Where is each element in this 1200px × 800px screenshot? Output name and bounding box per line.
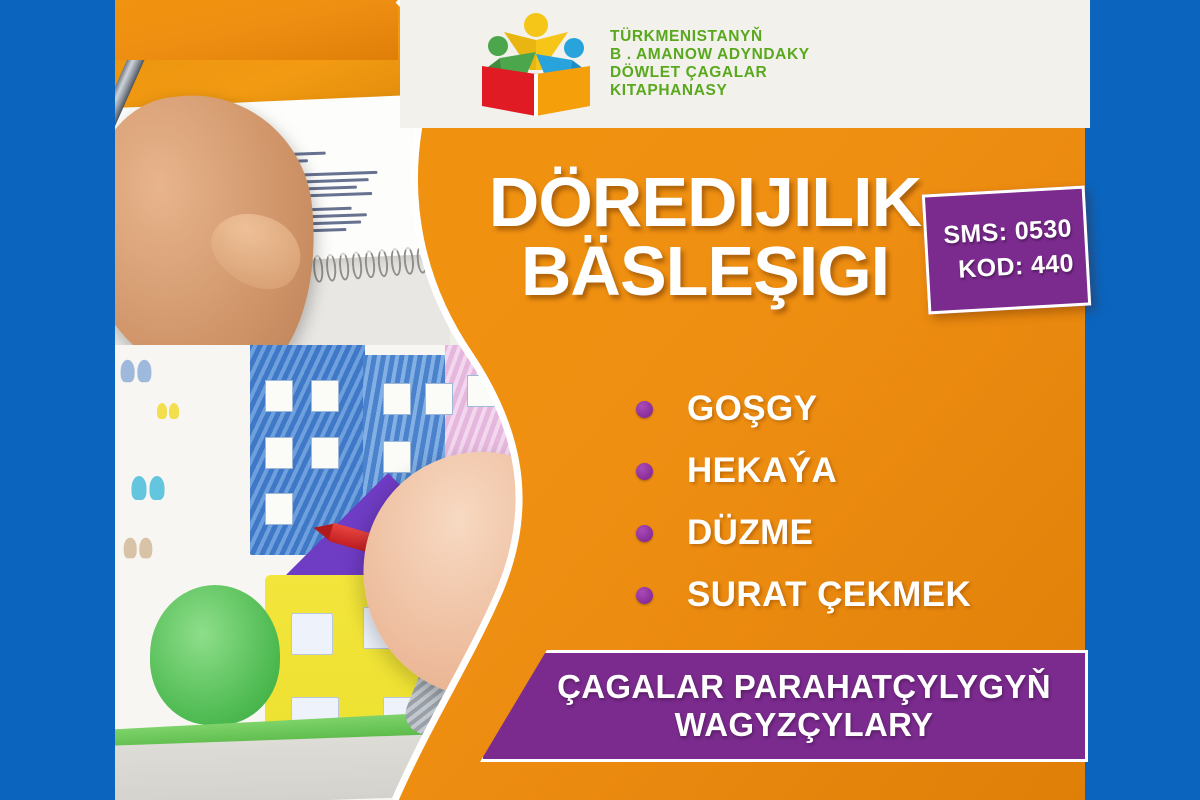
- category-list: GOŞGY HEKAÝA DÜZME SURAT ÇEKMEK: [636, 378, 971, 626]
- list-item: SURAT ÇEKMEK: [636, 564, 971, 626]
- sms-code-badge: SMS: 0530 KOD: 440: [922, 186, 1091, 315]
- poster-content: DÖREDIJILIK BÄSLEŞIGI SMS: 0530 KOD: 440…: [0, 0, 1200, 800]
- page-title: DÖREDIJILIK BÄSLEŞIGI: [470, 168, 940, 305]
- bullet-dot-icon: [636, 587, 653, 604]
- list-item: GOŞGY: [636, 378, 971, 440]
- list-item-label: SURAT ÇEKMEK: [687, 575, 971, 615]
- list-item: DÜZME: [636, 502, 971, 564]
- list-item-label: GOŞGY: [687, 389, 817, 429]
- list-item-label: HEKAÝA: [687, 451, 837, 491]
- footer-line-2: WAGYZÇYLARY: [675, 706, 934, 744]
- poster-root: TÜRKMENISTANYŇ B . AMANOW ADYNDAKY DÖWLE…: [0, 0, 1200, 800]
- bullet-dot-icon: [636, 525, 653, 542]
- footer-slogan-banner: ÇAGALAR PARAHATÇYLYGYŇ WAGYZÇYLARY: [480, 650, 1088, 762]
- title-line-1: DÖREDIJILIK: [470, 168, 940, 237]
- sms-number: SMS: 0530: [943, 214, 1073, 250]
- list-item-label: DÜZME: [687, 513, 813, 553]
- list-item: HEKAÝA: [636, 440, 971, 502]
- title-line-2: BÄSLEŞIGI: [470, 237, 940, 306]
- bullet-dot-icon: [636, 401, 653, 418]
- bullet-dot-icon: [636, 463, 653, 480]
- kod-number: KOD: 440: [957, 249, 1074, 284]
- footer-line-1: ÇAGALAR PARAHATÇYLYGYŇ: [557, 668, 1051, 706]
